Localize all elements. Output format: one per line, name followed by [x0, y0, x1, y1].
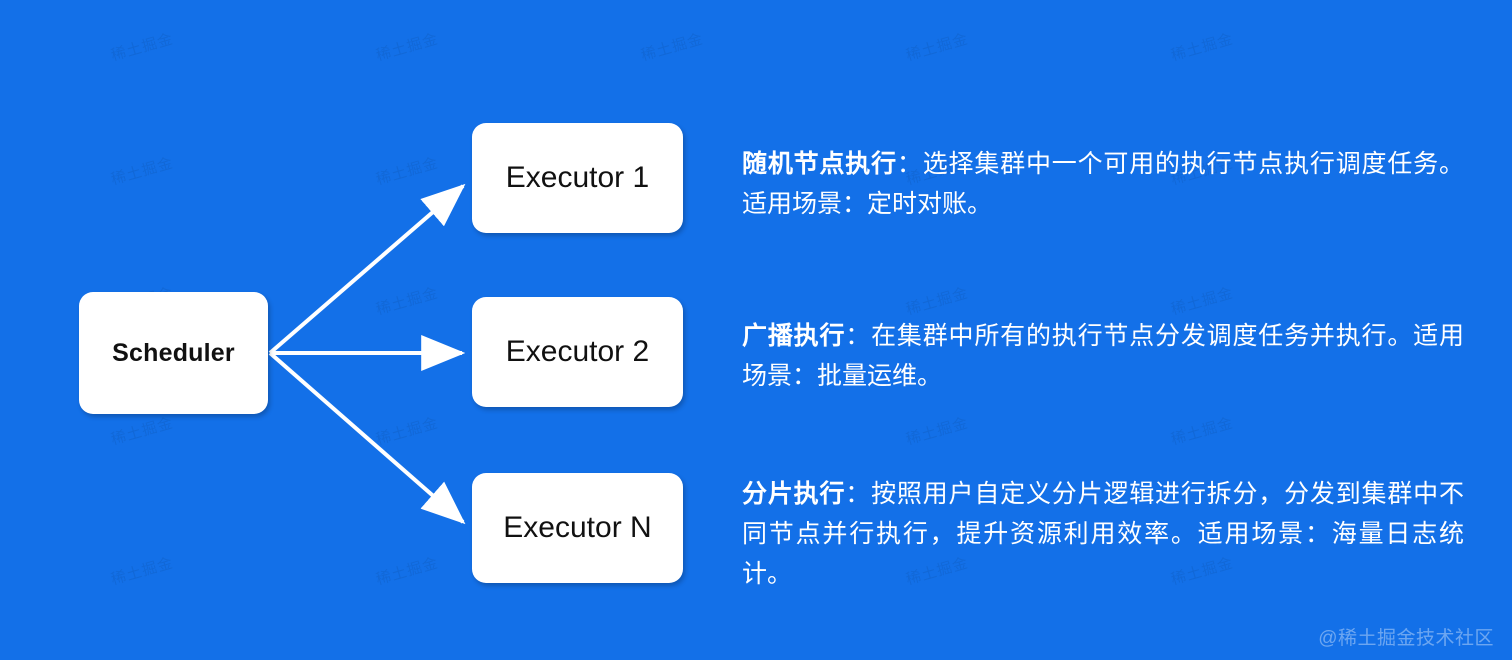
watermark-tile: 稀土掘金 — [1168, 28, 1235, 66]
node-executor-n[interactable]: Executor N — [472, 473, 683, 583]
description-broadcast: 广播执行：在集群中所有的执行节点分发调度任务并执行。适用场景：批量运维。 — [742, 316, 1464, 396]
node-scheduler-label: Scheduler — [112, 339, 235, 368]
node-executor-n-label: Executor N — [503, 511, 651, 545]
watermark-tile: 稀土掘金 — [1168, 282, 1235, 320]
watermark-tile: 稀土掘金 — [108, 28, 175, 66]
description-random-node-heading: 随机节点执行 — [742, 150, 897, 178]
watermark-tile: 稀土掘金 — [903, 28, 970, 66]
node-scheduler[interactable]: Scheduler — [79, 292, 268, 414]
node-executor-2-label: Executor 2 — [506, 335, 649, 369]
description-broadcast-heading: 广播执行 — [742, 322, 845, 350]
description-random-node: 随机节点执行：选择集群中一个可用的执行节点执行调度任务。适用场景：定时对账。 — [742, 144, 1464, 224]
watermark-tile: 稀土掘金 — [373, 552, 440, 590]
node-executor-1-label: Executor 1 — [506, 161, 649, 195]
watermark-tile: 稀土掘金 — [373, 28, 440, 66]
node-executor-2[interactable]: Executor 2 — [472, 297, 683, 407]
diagram-canvas: 稀土掘金 稀土掘金 稀土掘金 稀土掘金 稀土掘金 稀土掘金 稀土掘金 稀土掘金 … — [0, 0, 1512, 660]
watermark-tile: 稀土掘金 — [373, 152, 440, 190]
watermark-corner: @稀土掘金技术社区 — [1318, 623, 1494, 650]
watermark-tile: 稀土掘金 — [373, 282, 440, 320]
watermark-tile: 稀土掘金 — [373, 412, 440, 450]
node-executor-1[interactable]: Executor 1 — [472, 123, 683, 233]
watermark-tile: 稀土掘金 — [903, 282, 970, 320]
description-sharding: 分片执行：按照用户自定义分片逻辑进行拆分，分发到集群中不同节点并行执行，提升资源… — [742, 474, 1464, 594]
description-broadcast-body: ：在集群中所有的执行节点分发调度任务并执行。适用场景：批量运维。 — [742, 322, 1464, 390]
watermark-tile: 稀土掘金 — [108, 552, 175, 590]
arrow-scheduler-to-executor-1 — [270, 186, 463, 353]
watermark-tile: 稀土掘金 — [903, 412, 970, 450]
watermark-tile: 稀土掘金 — [108, 152, 175, 190]
arrow-scheduler-to-executor-n — [270, 353, 463, 522]
watermark-tile: 稀土掘金 — [108, 412, 175, 450]
watermark-tile: 稀土掘金 — [638, 28, 705, 66]
description-sharding-body: ：按照用户自定义分片逻辑进行拆分，分发到集群中不同节点并行执行，提升资源利用效率… — [742, 480, 1464, 588]
description-sharding-heading: 分片执行 — [742, 480, 845, 508]
watermark-tile: 稀土掘金 — [1168, 412, 1235, 450]
